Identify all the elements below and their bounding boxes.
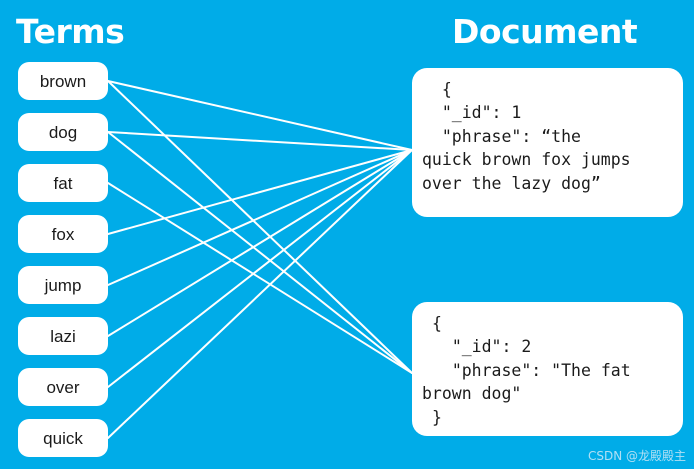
document-card-1[interactable]: { "_id": 1 "phrase": “the quick brown fo…	[412, 68, 683, 217]
document-body-2: { "_id": 2 "phrase": "The fat brown dog"…	[422, 312, 675, 429]
edge-dog-to-doc-1	[108, 132, 412, 150]
term-label: fox	[52, 226, 75, 243]
edge-fat-to-doc-2	[108, 183, 412, 373]
diagram-canvas: Terms Document browndogfatfoxjumplaziove…	[0, 0, 694, 469]
term-chip-fox[interactable]: fox	[18, 215, 108, 253]
term-label: fat	[54, 175, 73, 192]
edge-brown-to-doc-2	[108, 81, 412, 373]
term-chip-quick[interactable]: quick	[18, 419, 108, 457]
edge-dog-to-doc-2	[108, 132, 412, 373]
edge-jump-to-doc-1	[108, 150, 412, 285]
term-label: lazi	[50, 328, 76, 345]
term-label: jump	[45, 277, 82, 294]
term-label: brown	[40, 73, 86, 90]
term-chip-lazi[interactable]: lazi	[18, 317, 108, 355]
edge-over-to-doc-1	[108, 150, 412, 387]
term-label: dog	[49, 124, 77, 141]
term-label: quick	[43, 430, 83, 447]
edge-brown-to-doc-1	[108, 81, 412, 150]
term-chip-fat[interactable]: fat	[18, 164, 108, 202]
term-chip-dog[interactable]: dog	[18, 113, 108, 151]
term-chip-brown[interactable]: brown	[18, 62, 108, 100]
document-card-2[interactable]: { "_id": 2 "phrase": "The fat brown dog"…	[412, 302, 683, 436]
edge-quick-to-doc-1	[108, 150, 412, 438]
term-label: over	[46, 379, 79, 396]
term-chip-over[interactable]: over	[18, 368, 108, 406]
document-body-1: { "_id": 1 "phrase": “the quick brown fo…	[422, 78, 675, 195]
watermark: CSDN @龙殿殿主	[588, 447, 686, 464]
edge-lazi-to-doc-1	[108, 150, 412, 336]
term-chip-jump[interactable]: jump	[18, 266, 108, 304]
